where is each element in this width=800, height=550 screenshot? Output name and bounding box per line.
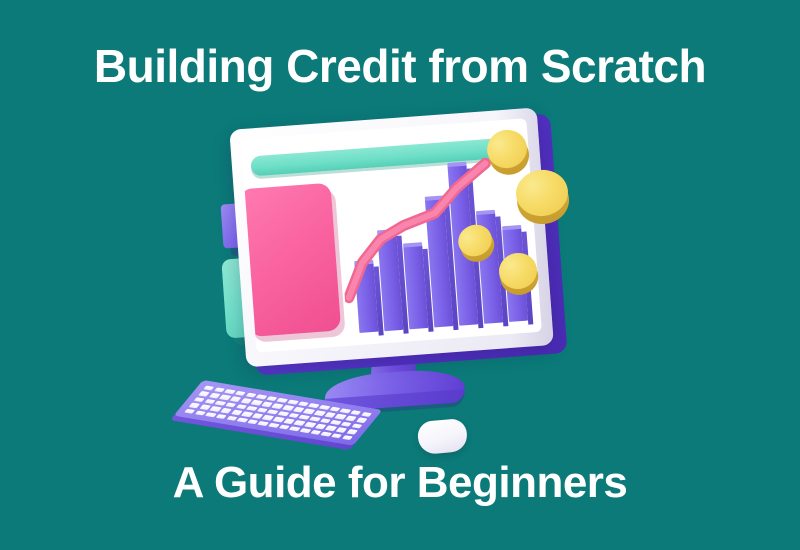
keyboard-key (318, 405, 330, 410)
keyboard-key (225, 402, 237, 407)
keyboard-key (346, 429, 358, 434)
keyboard-key (198, 391, 210, 396)
screen-side-panel (241, 183, 341, 337)
keyboard-key (282, 405, 294, 410)
keyboard-key (360, 412, 372, 417)
coin-lower (496, 249, 541, 292)
keyboard-key (356, 418, 368, 423)
keyboard-key (345, 416, 357, 421)
keyboard-key (350, 410, 362, 415)
coin-right-large (513, 167, 571, 220)
mouse (417, 418, 469, 455)
keyboard-key (336, 427, 348, 432)
keyboard-key (189, 403, 201, 408)
keyboard-key (268, 422, 280, 427)
keyboard-key (220, 408, 232, 413)
keyboard-key (230, 397, 242, 402)
keyboard-key (194, 397, 206, 402)
keyboard-key (300, 428, 312, 433)
keyboard-key (304, 422, 316, 427)
keyboard-key (255, 394, 267, 399)
keyboard-key (309, 416, 321, 421)
page-subtitle: A Guide for Beginners (0, 456, 800, 510)
keyboard-key (331, 433, 343, 438)
keyboard-key (184, 408, 196, 413)
keyboard-key (314, 411, 326, 416)
keyboard-key (234, 391, 246, 396)
keyboard-key (341, 422, 353, 427)
keyboard-key (273, 417, 285, 422)
keyboard-key (203, 386, 215, 391)
keyboard-key (351, 423, 363, 428)
keyboard-key (342, 435, 354, 440)
keyboard-key (287, 400, 299, 405)
keyboard-key (278, 411, 290, 416)
page-title: Building Credit from Scratch (0, 38, 800, 94)
keyboard-key (216, 414, 228, 419)
poster-canvas: Building Credit from Scratch (0, 0, 800, 550)
